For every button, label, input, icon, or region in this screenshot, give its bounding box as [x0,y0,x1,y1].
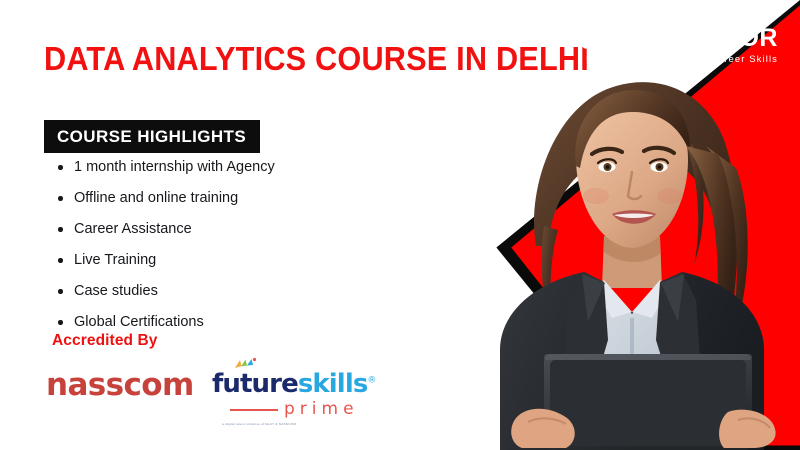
skillfloor-logo: SKILLFLOOR Center for Career Skills [580,26,778,65]
highlights-list: 1 month internship with Agency Offline a… [52,160,275,346]
accredited-by-label: Accredited By [52,332,158,350]
list-item: Career Assistance [52,222,275,237]
fs-microtext: a digital talent initiative of MeitY & N… [212,422,362,426]
list-item: Live Training [52,253,275,268]
course-highlights-badge: COURSE HIGHLIGHTS [44,120,260,153]
fs-skills-text: skills [298,369,368,399]
fs-rule [230,409,278,411]
nasscom-logo: nasscom [46,370,194,401]
flame-icon [580,27,606,61]
fs-prime-text: prime [284,401,359,418]
futureskills-wordmark: futureskills® [212,360,362,397]
brand-name: SKILLFLOOR [613,26,778,51]
fs-prime-row: prime [212,401,362,418]
course-promo-banner: SKILLFLOOR Center for Career Skills DATA… [0,0,800,450]
brand-tagline: Center for Career Skills [653,55,778,65]
futureskills-prime-logo: futureskills® prime a digital talent ini… [212,360,362,426]
list-item: 1 month internship with Agency [52,160,275,175]
fs-future-text: future [212,369,298,399]
list-item: Global Certifications [52,315,275,330]
registered-mark: ® [367,375,375,385]
businesswoman-photo [492,50,800,450]
list-item: Offline and online training [52,191,275,206]
list-item: Case studies [52,284,275,299]
